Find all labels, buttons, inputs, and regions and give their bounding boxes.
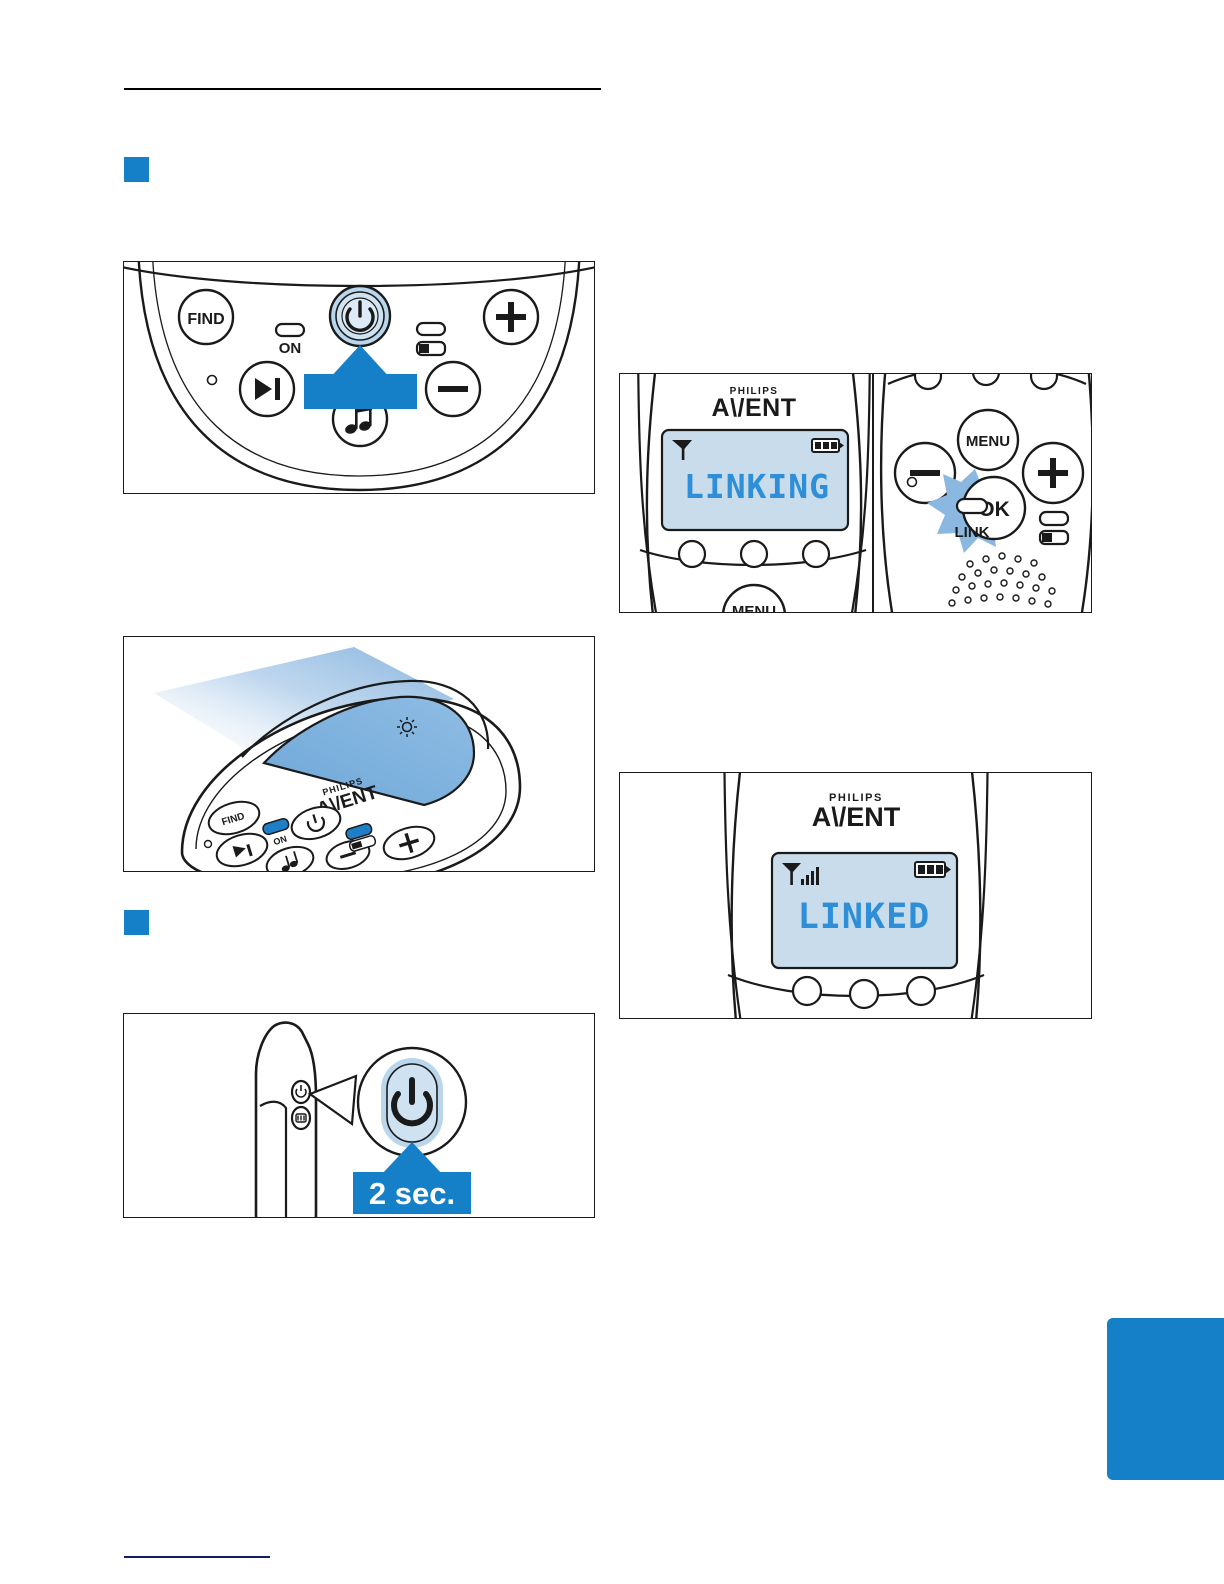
parent-soft-button-3 [803, 541, 829, 567]
side-power-led-icon [292, 1081, 310, 1103]
brand-avent-linked: A\/ENT [812, 802, 901, 832]
parent-menu-button-front: MENU [723, 585, 785, 612]
baby-battery-icon [417, 342, 445, 355]
nl-microphone-dot-icon [205, 841, 212, 848]
side-battery-led-icon [292, 1107, 310, 1129]
parent-lcd-linking: LINKING [662, 430, 848, 530]
linked-soft-button-3 [907, 977, 935, 1005]
figure-baby-unit-nightlight: PHILIPS A\/ENT FIND [123, 636, 595, 872]
keypad-soft-button-2 [973, 374, 999, 385]
page-edge-tab [1107, 1318, 1224, 1480]
figure-parent-unit-linking: PHILIPS A\/ENT [619, 373, 1092, 613]
figure-parent-unit-side-power: 2 sec. [123, 1013, 595, 1218]
lcd-status-text-linked: LINKED [798, 897, 930, 937]
baby-power-button [330, 286, 390, 346]
svg-text:LINK: LINK [955, 524, 990, 541]
baby-nightlight-led [417, 323, 445, 335]
figure-parent-unit-linked: PHILIPS A\/ENT [619, 772, 1092, 1019]
parent-lcd-linked: LINKED [772, 853, 957, 968]
baby-power-callout-label [304, 374, 417, 409]
svg-text:FIND: FIND [187, 311, 224, 328]
battery-icon-linked [915, 862, 951, 877]
baby-volume-up-button [484, 290, 538, 344]
figure-baby-unit-top-panel: FIND ON [123, 261, 595, 494]
callout-label-text: 2 sec. [369, 1176, 455, 1211]
side-power-callout-label: 2 sec. [353, 1172, 471, 1214]
parent-battery-icon [1040, 531, 1068, 544]
baby-find-button: FIND [179, 290, 233, 344]
keypad-soft-button-1 [915, 374, 941, 389]
speaker-grille-icon [949, 553, 1055, 607]
parent-unit-front: PHILIPS A\/ENT [638, 374, 870, 612]
side-power-button-magnified [381, 1058, 443, 1148]
manual-page: FIND ON [0, 0, 1224, 1584]
svg-text:ON: ON [279, 340, 302, 357]
linked-soft-button-2 [850, 980, 878, 1008]
linked-soft-button-1 [793, 977, 821, 1005]
parent-volume-down-button [895, 443, 955, 503]
svg-text:MENU: MENU [966, 433, 1010, 450]
baby-volume-down-button [426, 362, 480, 416]
parent-unit-keypad: MENU [881, 374, 1091, 612]
brand-avent: A\/ENT [712, 394, 797, 422]
parent-pilot-dot-icon [908, 478, 917, 487]
baby-on-led: ON [276, 324, 304, 357]
step-marker-2 [124, 910, 149, 935]
battery-icon [812, 439, 844, 452]
svg-text:MENU: MENU [732, 603, 776, 612]
header-rule [124, 88, 601, 90]
keypad-soft-button-3 [1031, 374, 1057, 389]
parent-menu-button: MENU [958, 410, 1018, 470]
footer-rule [124, 1556, 270, 1558]
parent-soft-button-2 [741, 541, 767, 567]
baby-play-pause-button [240, 362, 294, 416]
lcd-status-text: LINKING [684, 467, 830, 506]
baby-microphone-dot-icon [208, 376, 217, 385]
parent-volume-up-button [1023, 443, 1083, 503]
parent-power-led [1040, 512, 1068, 525]
parent-soft-button-1 [679, 541, 705, 567]
step-marker-1 [124, 157, 149, 182]
